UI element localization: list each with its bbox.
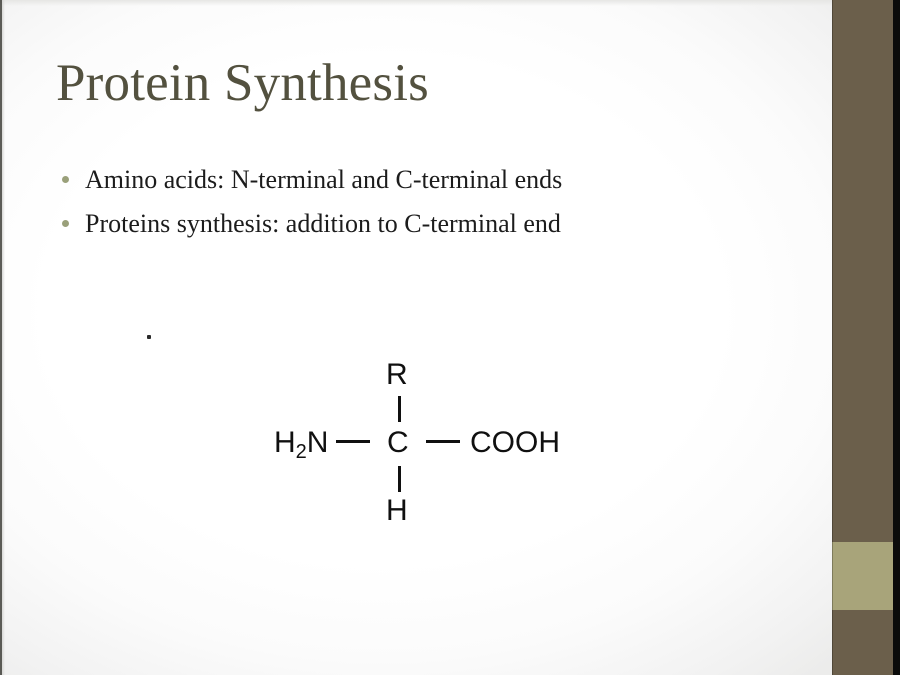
sidebar-left-seam (832, 0, 833, 675)
structure-bond-vertical-bottom (398, 466, 401, 492)
sidebar-accent-block (832, 542, 893, 610)
stray-period-mark (147, 335, 151, 339)
list-item-label: Amino acids: N-terminal and C-terminal e… (85, 160, 562, 200)
structure-bottom-group-label: H (386, 496, 408, 526)
amino-group-h: H (274, 426, 296, 459)
page-title: Protein Synthesis (56, 52, 429, 114)
structure-top-group-label: R (386, 360, 408, 390)
structure-carboxyl-group-label: COOH (470, 428, 560, 458)
slide-canvas: Protein Synthesis Amino acids: N-termina… (0, 0, 900, 675)
list-item-label: Proteins synthesis: addition to C-termin… (85, 204, 561, 244)
amino-group-n: N (307, 426, 329, 459)
slide-top-shading (0, 0, 832, 6)
slide-left-shading (2, 0, 5, 675)
structure-amino-group-label: H2N (274, 428, 328, 458)
list-item: Proteins synthesis: addition to C-termin… (62, 204, 762, 248)
list-item: Amino acids: N-terminal and C-terminal e… (62, 160, 762, 204)
structure-central-carbon-label: C (387, 428, 409, 458)
amino-acid-structure-diagram: R H2N C COOH H (262, 352, 582, 537)
sidebar-right-edge (893, 0, 900, 675)
structure-bond-horizontal-left (336, 440, 370, 443)
amino-group-subscript: 2 (296, 441, 307, 463)
structure-bond-horizontal-right (426, 440, 460, 443)
slide-left-border (0, 0, 2, 675)
bullet-list: Amino acids: N-terminal and C-terminal e… (62, 160, 762, 248)
bullet-dot-icon (62, 176, 69, 183)
bullet-dot-icon (62, 220, 69, 227)
structure-bond-vertical-top (398, 396, 401, 422)
decorative-sidebar (832, 0, 900, 675)
